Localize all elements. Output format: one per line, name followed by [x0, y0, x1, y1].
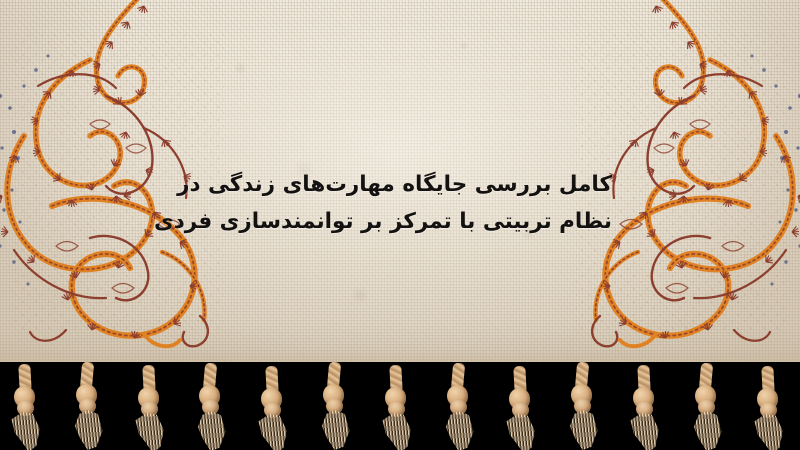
tassel [565, 362, 599, 448]
tassel [689, 363, 723, 449]
tassel-fringe [0, 362, 800, 450]
banner-canvas: کامل بررسی جایگاه مهارت‌های زندگی در نظا… [0, 0, 800, 450]
tassel [255, 366, 289, 450]
tassel [8, 364, 42, 450]
tassel [317, 362, 351, 448]
tassel [751, 366, 785, 450]
tassel [503, 366, 537, 450]
title-line-1: کامل بررسی جایگاه مهارت‌های زندگی در [188, 166, 612, 203]
tassel [132, 365, 166, 450]
tassel [627, 365, 661, 450]
title-block: کامل بررسی جایگاه مهارت‌های زندگی در نظا… [0, 166, 800, 240]
tassel [441, 363, 475, 449]
tassel [379, 365, 413, 450]
title-line-2: نظام تربیتی با تمرکز بر توانمندسازی فردی [188, 203, 612, 240]
tassel [70, 362, 104, 448]
tassel [193, 363, 227, 449]
